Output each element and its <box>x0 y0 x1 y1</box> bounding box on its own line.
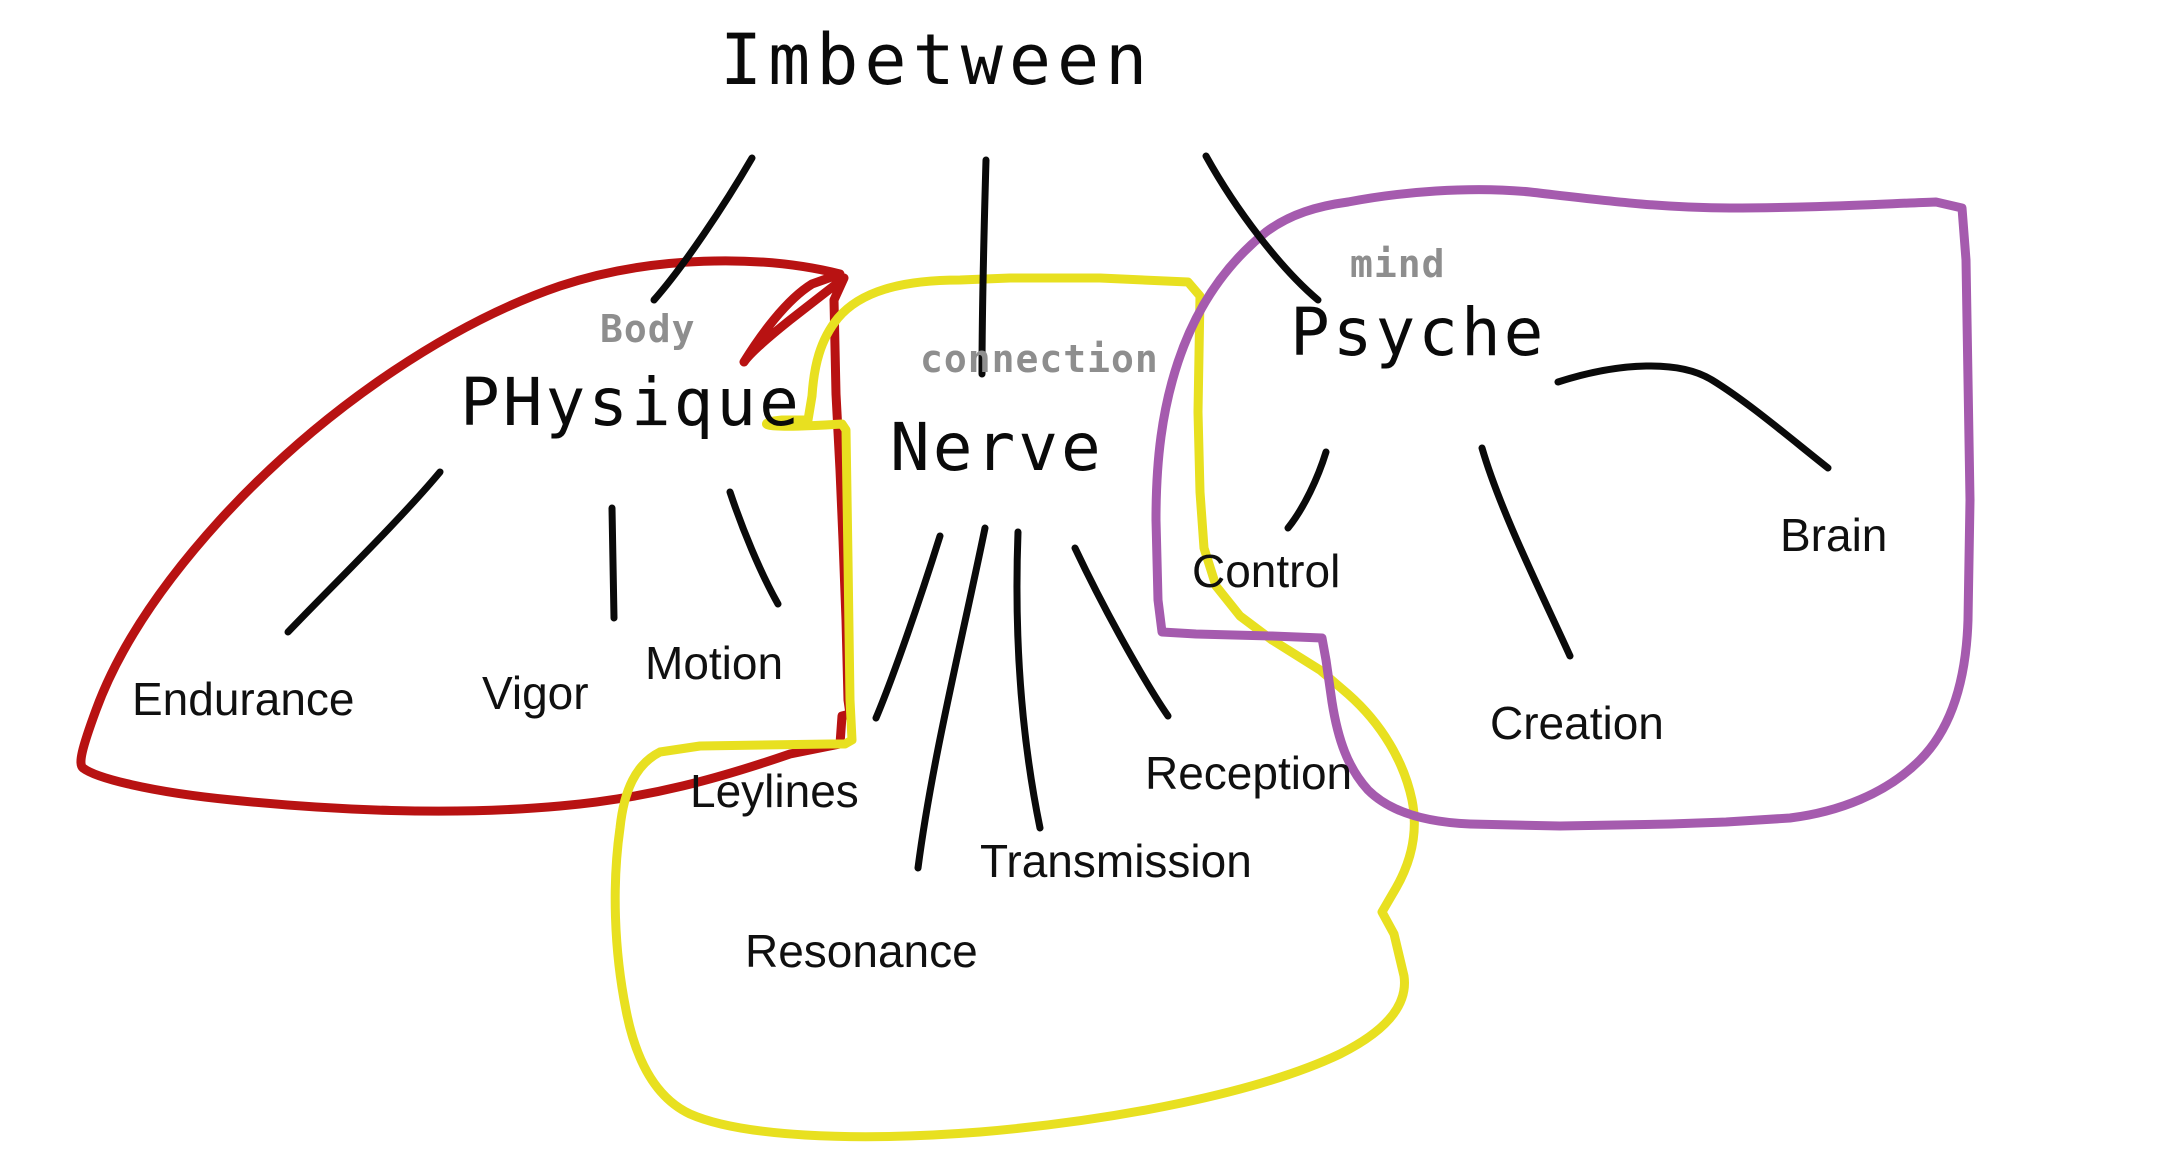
leaf-creation[interactable]: Creation <box>1490 700 1664 746</box>
group-title-nerve[interactable]: Nerve <box>890 415 1104 481</box>
leaf-motion[interactable]: Motion <box>645 640 783 686</box>
leaf-leylines[interactable]: Leylines <box>690 768 859 814</box>
group-title-psyche[interactable]: Psyche <box>1290 300 1546 366</box>
nerve-annotation: connection <box>920 340 1159 378</box>
nerve-leaf-line-transmission <box>1017 532 1040 828</box>
psyche-leaf-line-control <box>1288 452 1326 528</box>
leaf-resonance[interactable]: Resonance <box>745 928 978 974</box>
leaf-transmission[interactable]: Transmission <box>980 838 1252 884</box>
leaf-vigor[interactable]: Vigor <box>482 670 589 716</box>
title-connector-physique <box>654 158 752 300</box>
physique-leaf-line-vigor <box>612 508 614 618</box>
page-title: Imbetween <box>720 25 1153 95</box>
physique-leaf-line-endurance <box>288 472 440 632</box>
psyche-leaf-line-creation <box>1482 448 1570 656</box>
psyche-annotation: mind <box>1350 245 1446 283</box>
leaf-reception[interactable]: Reception <box>1145 750 1352 796</box>
leaf-brain[interactable]: Brain <box>1780 512 1887 558</box>
diagram-canvas <box>0 0 2160 1174</box>
nerve-leaf-line-leylines <box>876 536 940 718</box>
leaf-control[interactable]: Control <box>1192 548 1340 594</box>
leaf-endurance[interactable]: Endurance <box>132 676 355 722</box>
group-title-physique[interactable]: PHysique <box>460 370 802 436</box>
physique-annotation: Body <box>600 310 696 348</box>
psyche-leaf-line-brain <box>1558 366 1828 468</box>
physique-leaf-line-motion <box>730 492 778 604</box>
physique-outline-shape <box>81 261 850 811</box>
